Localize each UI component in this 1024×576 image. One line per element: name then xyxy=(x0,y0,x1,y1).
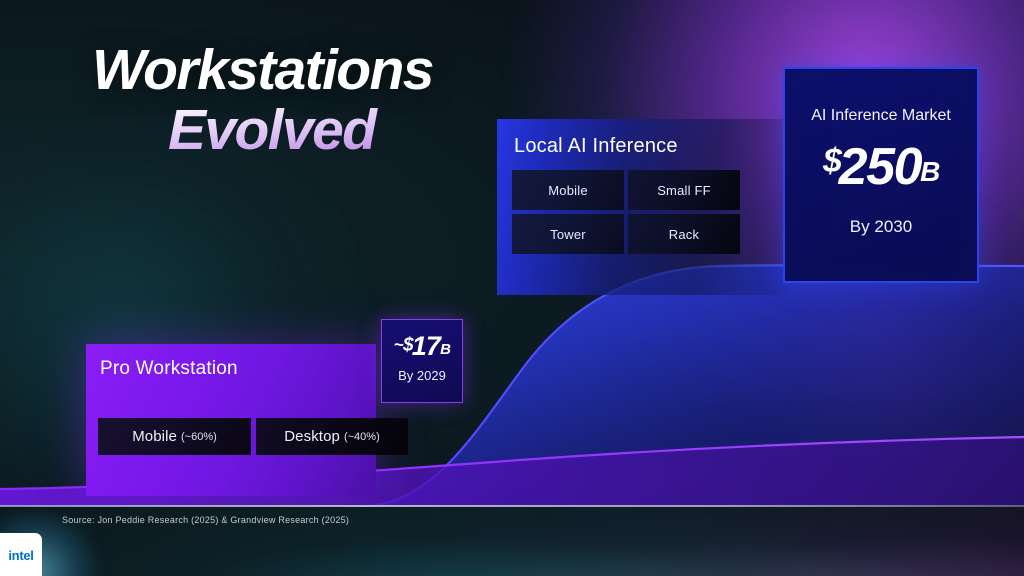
market-card-unit: B xyxy=(920,156,939,187)
ai-inference-market-card: AI Inference Market $250B By 2030 xyxy=(783,67,979,283)
chip-small-ff[interactable]: Small FF xyxy=(628,170,740,210)
pro-workstation-title: Pro Workstation xyxy=(100,358,238,380)
market-card-number: 250 xyxy=(839,138,922,196)
pro-card-number: 17 xyxy=(412,331,440,361)
pro-card-value: ~$17B xyxy=(382,333,462,360)
chip-pro-mobile-share: (~60%) xyxy=(181,431,217,443)
local-ai-inference-chip-grid: Mobile Small FF Tower Rack xyxy=(512,170,740,254)
pro-card-tilde: ~ xyxy=(394,335,403,354)
pro-workstation-value-card: ~$17B By 2029 xyxy=(381,319,463,403)
chip-mobile[interactable]: Mobile xyxy=(512,170,624,210)
chip-pro-desktop-share: (~40%) xyxy=(344,431,380,443)
market-card-subtitle: By 2030 xyxy=(785,217,977,237)
footer-divider xyxy=(0,505,1024,507)
chip-pro-mobile-label: Mobile xyxy=(132,428,177,445)
market-card-value: $250B xyxy=(785,141,977,193)
chip-tower[interactable]: Tower xyxy=(512,214,624,254)
pro-card-subtitle: By 2029 xyxy=(382,368,462,383)
title-line-2: Evolved xyxy=(168,104,433,158)
intel-logo-text: intel xyxy=(8,548,33,563)
pro-workstation-panel: Pro Workstation Mobile (~60%) Desktop (~… xyxy=(86,344,376,496)
chip-rack[interactable]: Rack xyxy=(628,214,740,254)
title-line-1: Workstations xyxy=(92,44,433,98)
chip-pro-mobile[interactable]: Mobile (~60%) xyxy=(98,418,251,455)
chip-pro-desktop-label: Desktop xyxy=(284,428,340,445)
pro-card-unit: B xyxy=(440,341,450,358)
market-card-title: AI Inference Market xyxy=(785,107,977,125)
local-ai-inference-panel: Local AI Inference Mobile Small FF Tower… xyxy=(497,119,791,295)
intel-logo: intel xyxy=(0,533,42,576)
slide-title: Workstations Evolved xyxy=(92,44,433,157)
pro-workstation-chip-row: Mobile (~60%) Desktop (~40%) xyxy=(98,418,408,455)
chip-pro-desktop[interactable]: Desktop (~40%) xyxy=(256,418,408,455)
local-ai-inference-title: Local AI Inference xyxy=(514,135,678,158)
slide-root: Workstations Evolved Local AI Inference … xyxy=(0,0,1024,576)
